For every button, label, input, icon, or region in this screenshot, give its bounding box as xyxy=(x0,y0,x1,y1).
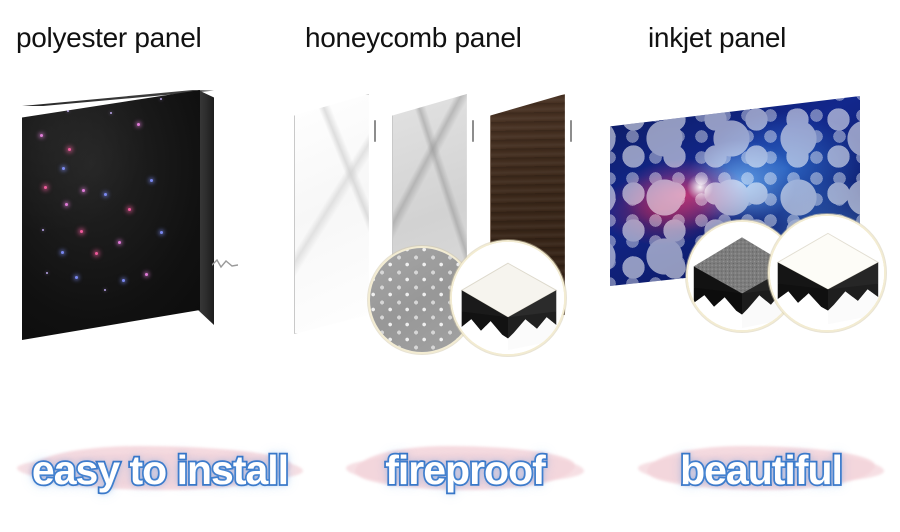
inkjet-panel-image xyxy=(608,96,892,346)
feature-caption-text: fireproof xyxy=(385,447,545,494)
feature-caption-text: beautiful xyxy=(680,447,842,494)
feature-caption-honeycomb: fireproof xyxy=(340,434,590,506)
slab-mounting-slot xyxy=(374,120,376,142)
panel-title-polyester: polyester panel xyxy=(16,22,201,54)
product-column-inkjet xyxy=(600,78,900,378)
product-column-honeycomb xyxy=(290,78,600,378)
slab-mounting-slot xyxy=(570,120,572,142)
feature-caption-inkjet: beautiful xyxy=(632,434,890,506)
white-corner-cross-section xyxy=(770,216,884,330)
power-cable-icon xyxy=(212,258,238,272)
panel-corner-cross-section xyxy=(452,242,564,354)
slab-mounting-slot xyxy=(472,120,474,142)
panel-front-face xyxy=(22,90,222,340)
feature-caption-polyester: easy to install xyxy=(10,434,310,506)
product-column-polyester xyxy=(0,78,290,378)
panel-title-inkjet: inkjet panel xyxy=(648,22,786,54)
polyester-star-panel-image xyxy=(22,90,222,340)
honeycomb-panel-image xyxy=(290,94,590,354)
product-comparison-banner: polyester panel honeycomb panel inkjet p… xyxy=(0,0,900,532)
white-panel-corner-detail-inset xyxy=(768,214,886,332)
panel-corner-detail-inset xyxy=(450,240,566,356)
feature-caption-text: easy to install xyxy=(32,447,288,494)
panel-title-honeycomb: honeycomb panel xyxy=(305,22,522,54)
panel-side-face xyxy=(198,90,214,340)
